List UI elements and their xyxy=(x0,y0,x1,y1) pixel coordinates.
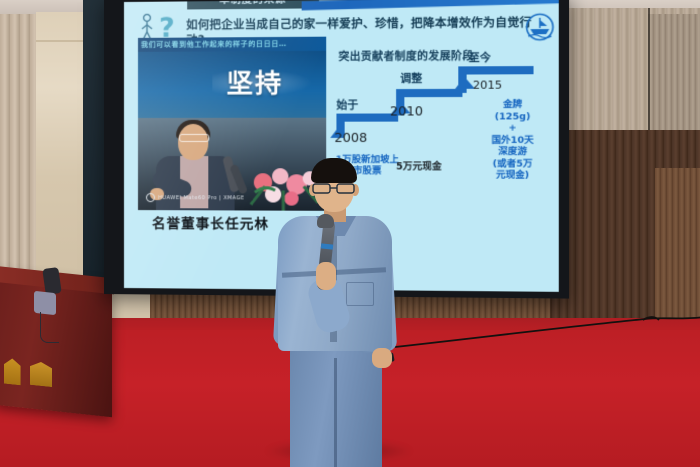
photo-watermark-text: HUAWEI Mate60 Pro | XMAGE xyxy=(158,195,244,201)
step-3-label: 至今 xyxy=(469,50,491,65)
step-3-reward-line2: (125g) xyxy=(495,111,531,122)
step-3-reward-line6: 元现金) xyxy=(496,170,529,181)
slide-top-accent-bar xyxy=(302,0,559,10)
speaker-figure xyxy=(272,158,404,467)
speaker-shirt-pocket xyxy=(346,282,374,306)
left-dark-recess xyxy=(83,0,105,300)
right-door-panel xyxy=(655,168,700,318)
step-3-year: 2015 xyxy=(473,78,502,91)
step-1-label: 始于 xyxy=(336,97,358,112)
podium-wire xyxy=(40,312,59,343)
speaker-leg-seam xyxy=(334,358,337,467)
right-wall-seam xyxy=(648,8,650,138)
eyeglasses-icon xyxy=(312,182,356,194)
photo-man-glasses-icon xyxy=(179,134,209,142)
step-2-label: 调整 xyxy=(400,71,422,86)
step-3-reward-line4: 深度游 xyxy=(498,146,527,157)
photo-watermark: HUAWEI Mate60 Pro | XMAGE xyxy=(146,192,287,204)
step-3-reward-line1: 金牌 xyxy=(503,99,522,110)
speaker-hand-holding-mic xyxy=(316,262,336,290)
speaker-hair xyxy=(311,158,357,183)
slide-previous-title-fragment: 本制度的来源 xyxy=(187,0,319,9)
microphone-head xyxy=(317,214,334,228)
left-marble-column xyxy=(36,12,83,312)
floor-cable xyxy=(395,313,700,353)
ship-company-logo xyxy=(525,13,554,42)
presentation-photo-scene: 本制度的来源 ? 如何把企业当成自己的家一样爱护、珍惜，把降本增效作为自觉行动?… xyxy=(0,0,700,467)
right-upper-wall-return xyxy=(648,14,700,134)
step-2-year: 2010 xyxy=(390,103,423,118)
photo-banner-text: 我们可以看到他工作起来的样子的日日日… xyxy=(138,37,326,52)
step-3-reward: 金牌 (125g) + 国外10天 深度游 (或者5万 元现金) xyxy=(479,99,546,182)
photo-caption: 名誉董事长任元林 xyxy=(152,212,269,233)
photo-headline: 坚持 xyxy=(226,63,283,101)
step-3-reward-plus: + xyxy=(509,122,517,133)
step-3-reward-line3: 国外10天 xyxy=(491,134,533,145)
huawei-ring-icon xyxy=(146,193,155,202)
left-wood-panel xyxy=(0,14,36,299)
step-3-reward-line5: (或者5万 xyxy=(493,158,533,169)
podium-microphone xyxy=(42,267,61,295)
step-1-year: 2008 xyxy=(334,130,367,145)
speaker-hand-holding-clicker xyxy=(372,348,392,368)
